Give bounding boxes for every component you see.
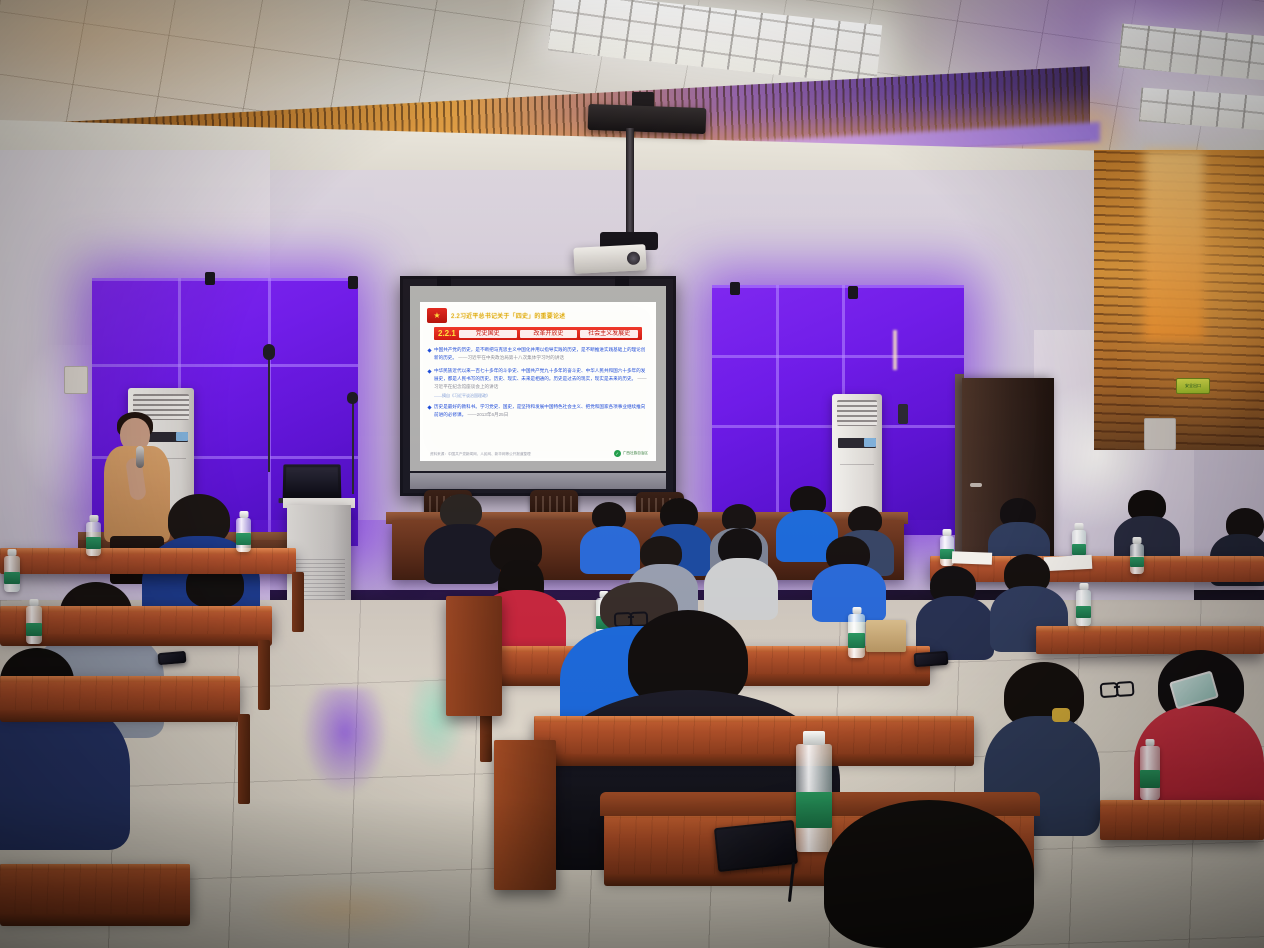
wall-strip-light <box>893 330 897 370</box>
water-bottle <box>26 606 42 644</box>
leaf-circle-icon: ✓ <box>614 450 621 457</box>
track-spotlight <box>730 282 740 295</box>
presenter-laptop[interactable] <box>283 464 342 500</box>
microphone-icon <box>263 344 275 360</box>
screen-bottom-bar <box>410 473 666 489</box>
wall-control-box <box>64 366 88 394</box>
slide-header: ★ 2.2习近平总书记关于「四史」的重要论述 <box>427 307 649 324</box>
slide-segment: 党史国史 <box>459 330 517 338</box>
slide-title: 2.2习近平总书记关于「四史」的重要论述 <box>451 311 649 320</box>
exit-sign: 安全出口 <box>1176 378 1210 394</box>
desk-leg <box>292 572 304 632</box>
smartphone[interactable] <box>714 820 798 872</box>
person-head <box>440 494 482 528</box>
microphone-stand <box>268 352 270 472</box>
door-handle[interactable] <box>970 483 982 487</box>
paper-sheet <box>952 551 992 564</box>
desk-row <box>1036 626 1264 654</box>
track-spotlight <box>205 272 215 285</box>
water-bottle <box>848 614 865 658</box>
projection-screen: ★ 2.2习近平总书记关于「四史」的重要论述 2.2.1 党史国史 改革开放史 … <box>400 276 676 496</box>
water-bottle <box>236 518 251 552</box>
floor-light-reflection <box>300 688 390 798</box>
smartphone[interactable] <box>158 651 187 665</box>
wall-sensor <box>898 404 908 424</box>
desk-row <box>534 716 974 756</box>
desk-side <box>446 596 502 716</box>
slide-segment: 社会主义发展史 <box>580 330 638 338</box>
person-body <box>580 526 640 574</box>
bullet-text: 中华民族近代以来一百七十多年的斗争史、中国共产党九十多年的奋斗史、中华人民共和国… <box>434 368 645 381</box>
bullet-text: 历史是最好的教科书。学习党史、国史，是坚持和发展中国特色社会主义、把党和国家各项… <box>434 404 645 417</box>
slide-subheader-bar: 2.2.1 党史国史 改革开放史 社会主义发展史 <box>434 327 642 340</box>
wall-control-box <box>1144 418 1176 450</box>
water-bottle <box>796 744 832 852</box>
desk-leg <box>238 714 250 804</box>
eyeglasses <box>1100 681 1135 695</box>
cove-light-right <box>1144 150 1204 340</box>
projected-slide: ★ 2.2习近平总书记关于「四史」的重要论述 2.2.1 党史国史 改革开放史 … <box>420 302 656 461</box>
smartphone[interactable] <box>914 651 949 667</box>
desk-foreground <box>0 864 190 916</box>
slide-subnote: ——摘自《习近平谈治国理政》 <box>434 393 648 399</box>
paper-sheet <box>1044 555 1093 571</box>
projector-lens-icon <box>627 251 641 265</box>
projector-pole-mount <box>626 128 634 236</box>
water-bottle <box>4 556 20 592</box>
desk-row <box>0 676 240 712</box>
handheld-microphone <box>136 446 144 468</box>
slide-bullet: 历史是最好的教科书。学习党史、国史，是坚持和发展中国特色社会主义、把党和国家各项… <box>428 403 648 419</box>
person-head <box>824 800 1034 948</box>
slide-bullet: 中华民族近代以来一百七十多年的斗争史、中国共产党九十多年的奋斗史、中华人民共和国… <box>428 367 648 391</box>
desk-row <box>0 548 296 574</box>
hair-clip <box>1052 708 1070 722</box>
floor-light-reflection <box>250 880 440 940</box>
screen-surface: ★ 2.2习近平总书记关于「四史」的重要论述 2.2.1 党史国史 改革开放史 … <box>410 286 666 471</box>
desk-leg <box>258 640 270 710</box>
water-bottle <box>1140 746 1160 800</box>
slide-body: 中国共产党的历史，是不断把马克思主义中国化并用以指导实践的历史，是不断推进实践基… <box>428 346 648 419</box>
desk-row <box>1100 800 1264 840</box>
lecture-hall-photo: 安全出口 ★ 2.2习近平总书记关于「四史」的重要论述 2.2.1 党史国史 改… <box>0 0 1264 948</box>
ceiling-speaker-bar <box>588 104 707 134</box>
slide-bullet: 中国共产党的历史，是不断把马克思主义中国化并用以指导实践的历史，是不断推进实践基… <box>428 346 648 362</box>
water-bottle <box>1130 544 1144 574</box>
party-emblem-icon: ★ <box>427 308 447 323</box>
person-body <box>424 524 500 584</box>
slide-logo-text: 广西壮族自治区 <box>623 451 648 456</box>
slide-logo: ✓ 广西壮族自治区 <box>614 450 648 457</box>
slide-segment: 改革开放史 <box>520 330 578 338</box>
water-bottle <box>1076 590 1091 626</box>
slide-section-number: 2.2.1 <box>438 330 456 338</box>
water-bottle <box>86 522 101 556</box>
microphone-stand <box>352 398 354 494</box>
microphone-icon <box>347 392 358 404</box>
track-spotlight <box>848 286 858 299</box>
slide-footer-note: 资料来源：中国共产党新闻网、人民网、新华网等公开报道整理 <box>430 452 531 457</box>
person-body <box>0 700 130 850</box>
cardboard-box <box>866 620 906 652</box>
desk-side <box>494 740 556 890</box>
laptop-screen <box>286 467 338 492</box>
eyeglasses <box>614 611 648 624</box>
track-spotlight <box>348 276 358 289</box>
person-body <box>704 558 778 620</box>
bullet-source: ——2013年6月25日 <box>467 412 508 417</box>
bullet-source: ——习近平在中央政治局第十八次集体学习时的讲话 <box>458 355 564 360</box>
